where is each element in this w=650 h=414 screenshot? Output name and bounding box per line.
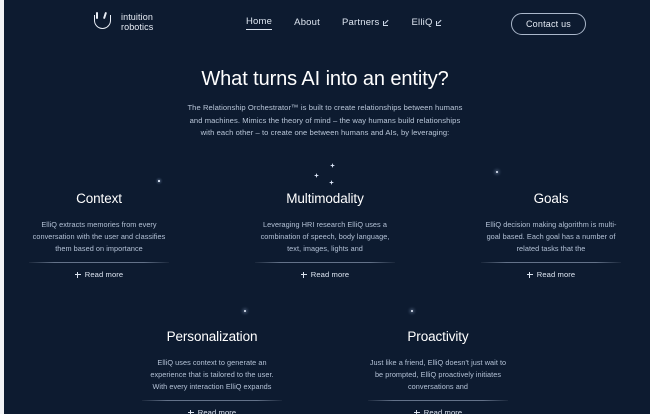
external-link-icon: [436, 19, 443, 26]
read-more-label: Read more: [198, 408, 236, 414]
read-more-button[interactable]: Read more: [75, 270, 123, 279]
feature-card-title: Context: [29, 190, 169, 207]
feature-card-divider: [29, 262, 169, 263]
feature-card-divider: [142, 400, 282, 401]
feature-card-context: Context ElliQ extracts memories from eve…: [29, 190, 169, 283]
brand-name-line2: robotics: [121, 22, 153, 32]
nav-item-home-label: Home: [246, 16, 272, 27]
feature-card-body: Just like a friend, ElliQ doesn't just w…: [368, 357, 508, 393]
read-more-label: Read more: [537, 270, 575, 279]
primary-nav: Home About Partners ElliQ: [246, 16, 443, 30]
sparkle-decoration-icon: [158, 180, 160, 182]
feature-card-divider: [481, 262, 621, 263]
plus-icon: [301, 272, 307, 278]
read-more-label: Read more: [311, 270, 349, 279]
contact-us-button[interactable]: Contact us: [511, 13, 586, 35]
nav-item-elliq-label: ElliQ: [412, 17, 433, 28]
feature-card-body: ElliQ decision making algorithm is multi…: [481, 219, 621, 255]
sparkle-decoration-icon: [329, 180, 334, 185]
feature-card-multimodality: Multimodality Leveraging HRI research El…: [255, 190, 395, 283]
external-link-icon: [383, 19, 390, 26]
feature-card-title: Multimodality: [255, 190, 395, 207]
feature-card-title: Proactivity: [368, 328, 508, 345]
nav-item-partners[interactable]: Partners: [342, 17, 390, 30]
feature-card-body: Leveraging HRI research ElliQ uses a com…: [255, 219, 395, 255]
feature-card-proactivity: Proactivity Just like a friend, ElliQ do…: [368, 328, 508, 414]
site-header: intuition robotics Home About Partners E…: [0, 0, 650, 46]
sparkle-decoration-icon: [244, 310, 246, 312]
plus-icon: [414, 410, 420, 414]
sparkle-decoration-icon: [411, 310, 413, 312]
feature-card-body: ElliQ uses context to generate an experi…: [142, 357, 282, 393]
page-title: What turns AI into an entity?: [0, 66, 650, 92]
feature-card-title: Goals: [481, 190, 621, 207]
sparkle-decoration-icon: [496, 171, 498, 173]
hero-subtitle: The Relationship Orchestrator™ is built …: [187, 102, 463, 140]
nav-item-partners-label: Partners: [342, 17, 380, 28]
plus-icon: [75, 272, 81, 278]
feature-card-personalization: Personalization ElliQ uses context to ge…: [142, 328, 282, 414]
nav-item-about-label: About: [294, 17, 320, 28]
sparkle-decoration-icon: [330, 163, 335, 168]
hero-section: What turns AI into an entity? The Relati…: [0, 66, 650, 140]
read-more-button[interactable]: Read more: [527, 270, 575, 279]
plus-icon: [188, 410, 194, 414]
brand-logo[interactable]: intuition robotics: [92, 11, 153, 33]
read-more-label: Read more: [85, 270, 123, 279]
feature-card-title: Personalization: [142, 328, 282, 345]
sparkle-decoration-icon: [314, 173, 319, 178]
nav-item-elliq[interactable]: ElliQ: [412, 17, 443, 30]
brand-name-line1: intuition: [121, 12, 153, 22]
feature-card-divider: [255, 262, 395, 263]
feature-card-body: ElliQ extracts memories from every conve…: [29, 219, 169, 255]
nav-item-about[interactable]: About: [294, 17, 320, 30]
page-root: intuition robotics Home About Partners E…: [0, 0, 650, 414]
intuition-robotics-smile-logo-icon: [92, 11, 114, 33]
nav-item-home[interactable]: Home: [246, 16, 272, 30]
read-more-label: Read more: [424, 408, 462, 414]
feature-row-2: Personalization ElliQ uses context to ge…: [0, 328, 650, 414]
plus-icon: [527, 272, 533, 278]
brand-name: intuition robotics: [121, 12, 153, 33]
feature-card-goals: Goals ElliQ decision making algorithm is…: [481, 190, 621, 283]
read-more-button[interactable]: Read more: [301, 270, 349, 279]
read-more-button[interactable]: Read more: [414, 408, 462, 414]
feature-row-1: Context ElliQ extracts memories from eve…: [0, 190, 650, 283]
read-more-button[interactable]: Read more: [188, 408, 236, 414]
feature-card-divider: [368, 400, 508, 401]
